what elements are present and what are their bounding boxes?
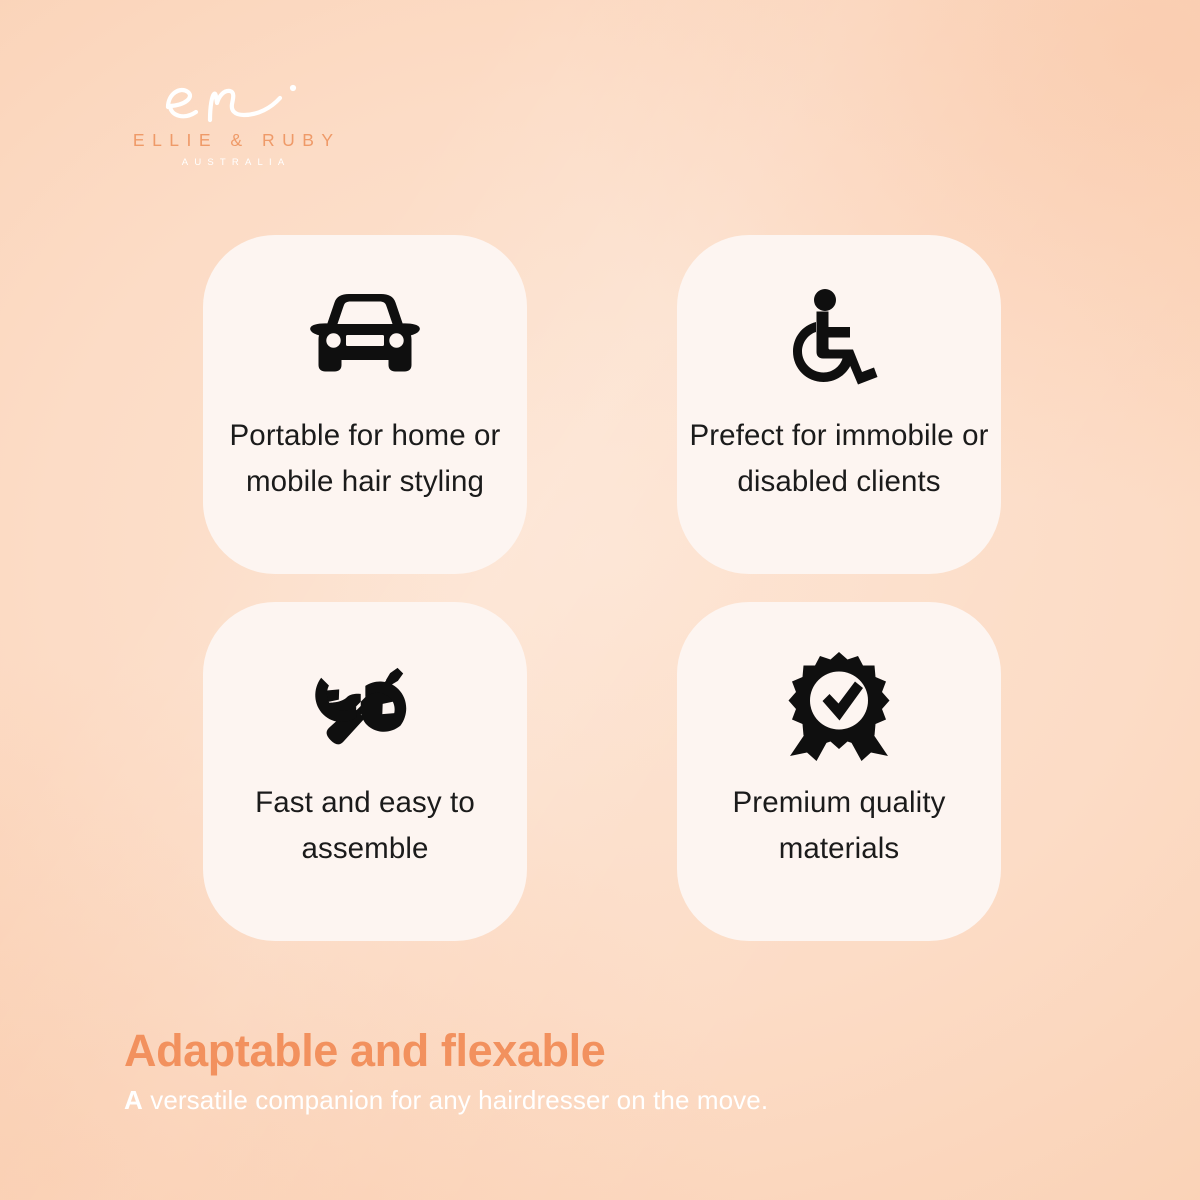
feature-card-label: Fast and easy to assemble (203, 780, 527, 871)
feature-card-label: Portable for home or mobile hair styling (203, 413, 527, 504)
feature-card-accessibility[interactable]: Prefect for immobile or disabled clients (677, 235, 1001, 574)
promo-graphic: ELLIE & RUBY AUSTRALIA Portable for home… (0, 0, 1200, 1200)
feature-card-portable[interactable]: Portable for home or mobile hair styling (203, 235, 527, 574)
feature-card-assembly[interactable]: Fast and easy to assemble (203, 602, 527, 941)
footer-subtitle: A versatile companion for any hairdresse… (124, 1084, 1124, 1118)
footer-subtitle-rest: versatile companion for any hairdresser … (143, 1085, 768, 1115)
footer-block: Adaptable and flexable A versatile compa… (124, 1026, 1124, 1118)
er-monogram-icon (108, 72, 358, 128)
car-front-icon (303, 279, 427, 399)
brand-name: ELLIE & RUBY (108, 130, 358, 151)
brand-country: AUSTRALIA (108, 157, 358, 168)
feature-card-grid: Portable for home or mobile hair styling… (203, 235, 1001, 941)
brand-logo: ELLIE & RUBY AUSTRALIA (108, 72, 358, 168)
quality-badge-icon (785, 646, 893, 766)
footer-subtitle-lead: A (124, 1085, 143, 1115)
wrench-screwdriver-icon (310, 646, 420, 766)
feature-card-label: Prefect for immobile or disabled clients (677, 413, 1001, 504)
wheelchair-accessible-icon (790, 279, 888, 399)
feature-card-quality[interactable]: Premium quality materials (677, 602, 1001, 941)
footer-headline: Adaptable and flexable (124, 1026, 1124, 1076)
feature-card-label: Premium quality materials (677, 780, 1001, 871)
